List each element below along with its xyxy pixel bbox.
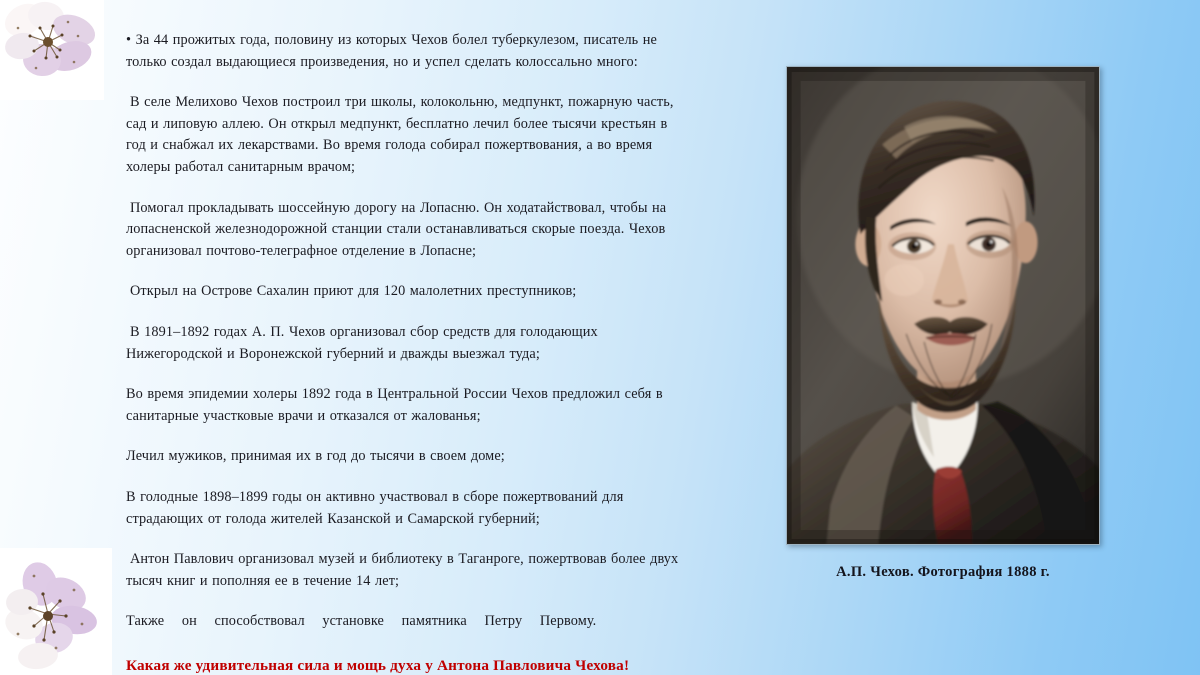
paragraph-sakhalin: Открыл на Острове Сахалин приют для 120 … <box>126 281 686 303</box>
cherry-blossom-icon <box>0 0 104 100</box>
paragraph-lopasnya: Помогал прокладывать шоссейную дорогу на… <box>126 198 686 263</box>
blossom-decoration-top-left <box>0 0 104 100</box>
slide-body-text: • За 44 прожитых года, половину из котор… <box>126 30 686 675</box>
paragraph-famine-1891: В 1891–1892 годах А. П. Чехов организова… <box>126 322 686 365</box>
paragraph-famine-1898: В голодные 1898–1899 годы он активно уча… <box>126 487 686 530</box>
portrait-block: А.П. Чехов. Фотография 1888 г. <box>786 66 1100 581</box>
paragraph-cholera-1892: Во время эпидемии холеры 1892 года в Цен… <box>126 384 686 427</box>
blossom-decoration-bottom-left <box>0 548 112 675</box>
chekhov-portrait-photo <box>787 67 1099 544</box>
portrait-caption: А.П. Чехов. Фотография 1888 г. <box>786 564 1100 581</box>
cherry-blossom-icon <box>0 548 112 675</box>
paragraph-monument-peter: Также он способствовал установке памятни… <box>126 611 686 633</box>
presentation-slide: • За 44 прожитых года, половину из котор… <box>0 0 1200 675</box>
paragraph-taganrog-library: Антон Павлович организовал музей и библи… <box>126 549 686 592</box>
paragraph-treated-peasants: Лечил мужиков, принимая их в год до тыся… <box>126 446 686 468</box>
portrait-photo-frame <box>786 66 1100 545</box>
paragraph-melikhovo: В селе Мелихово Чехов построил три школы… <box>126 92 686 178</box>
paragraph-intro: • За 44 прожитых года, половину из котор… <box>126 30 686 73</box>
closing-exclamation: Какая же удивительная сила и мощь духа у… <box>126 655 686 675</box>
